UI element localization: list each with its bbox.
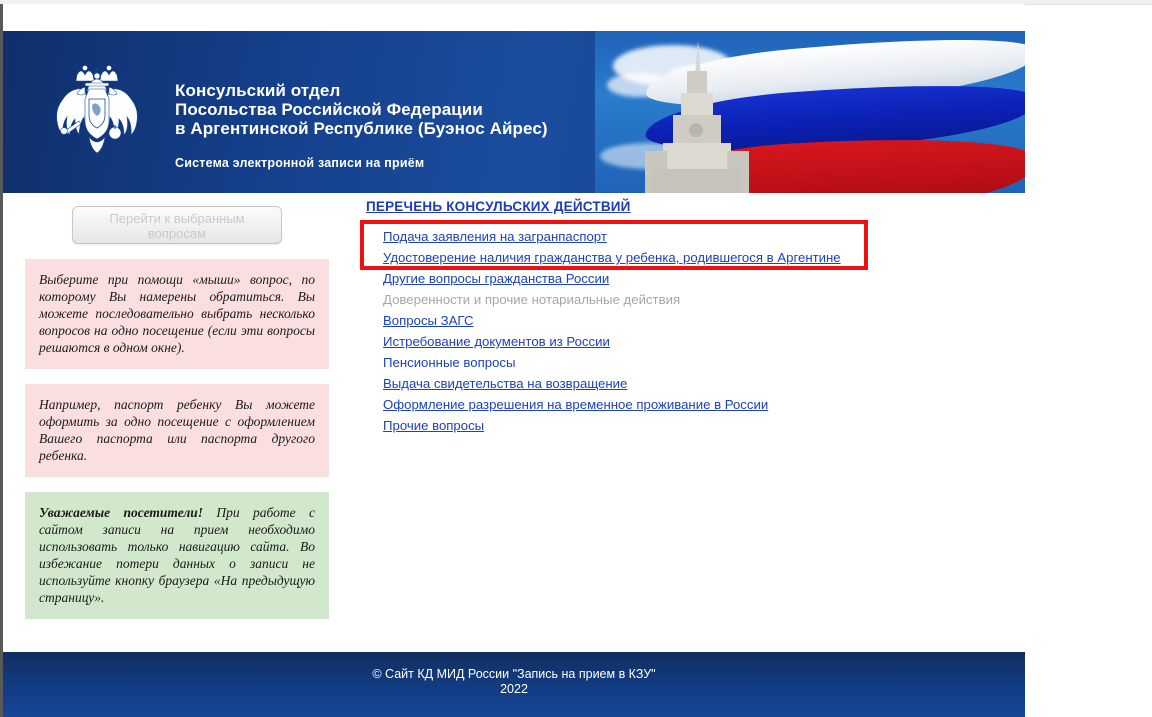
list-item: Пенсионные вопросы bbox=[366, 353, 926, 374]
info-note-instructions: Выберите при помощи «мыши» вопрос, по ко… bbox=[25, 259, 329, 369]
tower-spire bbox=[695, 41, 701, 75]
list-item: Истребование документов из России bbox=[366, 332, 926, 353]
info-note-example: Например, паспорт ребенку Вы можете офор… bbox=[25, 384, 329, 477]
banner-title-line3: в Аргентинской Республике (Буэнос Айрес) bbox=[175, 119, 548, 138]
russian-coat-of-arms-icon bbox=[45, 59, 149, 167]
banner-subtitle: Система электронной записи на приём bbox=[175, 156, 548, 170]
banner-title-line2: Посольства Российской Федерации bbox=[175, 100, 548, 119]
action-item-passport-application[interactable]: Подача заявления на загранпаспорт bbox=[383, 229, 607, 244]
consular-actions-panel: ПЕРЕЧЕНЬ КОНСУЛЬСКИХ ДЕЙСТВИЙ Подача зая… bbox=[366, 193, 926, 437]
action-item-temporary-residence[interactable]: Оформление разрешения на временное прожи… bbox=[383, 397, 768, 412]
goto-selected-questions-button[interactable]: Перейти к выбранным вопросам bbox=[72, 206, 282, 244]
action-item-pension-questions[interactable]: Пенсионные вопросы bbox=[383, 355, 516, 370]
list-item: Подача заявления на загранпаспорт bbox=[366, 227, 926, 248]
footer-year: 2022 bbox=[3, 682, 1025, 697]
info-note-warning-text: При работе с сайтом записи на прием необ… bbox=[39, 505, 315, 605]
info-note-warning-lead: Уважаемые посетители! bbox=[39, 505, 203, 520]
sidebar-column: Перейти к выбранным вопросам Выберите пр… bbox=[25, 193, 329, 619]
tower-emblem bbox=[689, 123, 703, 137]
list-item: Выдача свидетельства на возвращение bbox=[366, 374, 926, 395]
consular-actions-list: Подача заявления на загранпаспорт Удосто… bbox=[366, 227, 926, 437]
info-note-instructions-text: Выберите при помощи «мыши» вопрос, по ко… bbox=[39, 272, 315, 355]
action-item-other-citizenship[interactable]: Другие вопросы гражданства России bbox=[383, 271, 609, 286]
action-item-other-questions[interactable]: Прочие вопросы bbox=[383, 418, 484, 433]
action-item-return-certificate[interactable]: Выдача свидетельства на возвращение bbox=[383, 376, 627, 391]
tower-base bbox=[653, 169, 741, 193]
list-item: Другие вопросы гражданства России bbox=[366, 269, 926, 290]
list-item: Прочие вопросы bbox=[366, 416, 926, 437]
action-item-child-citizenship[interactable]: Удостоверение наличия гражданства у ребе… bbox=[383, 250, 841, 265]
info-note-navigation-warning: Уважаемые посетители! При работе с сайто… bbox=[25, 492, 329, 619]
info-note-example-text: Например, паспорт ребенку Вы можете офор… bbox=[39, 397, 315, 463]
action-item-notarial-acts: Доверенности и прочие нотариальные дейст… bbox=[383, 292, 680, 307]
banner-title-line1: Консульский отдел bbox=[175, 81, 548, 100]
action-item-document-request[interactable]: Истребование документов из России bbox=[383, 334, 610, 349]
list-item: Удостоверение наличия гражданства у ребе… bbox=[366, 248, 926, 269]
action-item-civil-registry[interactable]: Вопросы ЗАГС bbox=[383, 313, 474, 328]
list-item: Оформление разрешения на временное прожи… bbox=[366, 395, 926, 416]
site-footer: © Сайт КД МИД России "Запись на прием в … bbox=[3, 652, 1025, 717]
banner-top-gap bbox=[3, 4, 1025, 31]
consular-actions-title: ПЕРЕЧЕНЬ КОНСУЛЬСКИХ ДЕЙСТВИЙ bbox=[366, 199, 926, 214]
footer-copyright: © Сайт КД МИД России "Запись на прием в … bbox=[3, 667, 1025, 682]
list-item: Вопросы ЗАГС bbox=[366, 311, 926, 332]
banner-text-block: Консульский отдел Посольства Российской … bbox=[175, 81, 548, 170]
site-header-banner: Консульский отдел Посольства Российской … bbox=[3, 31, 1025, 193]
mfa-tower-icon bbox=[651, 43, 743, 193]
list-item: Доверенности и прочие нотариальные дейст… bbox=[366, 290, 926, 311]
site-page: Консульский отдел Посольства Российской … bbox=[0, 4, 1025, 717]
main-content: Перейти к выбранным вопросам Выберите пр… bbox=[3, 193, 1025, 649]
